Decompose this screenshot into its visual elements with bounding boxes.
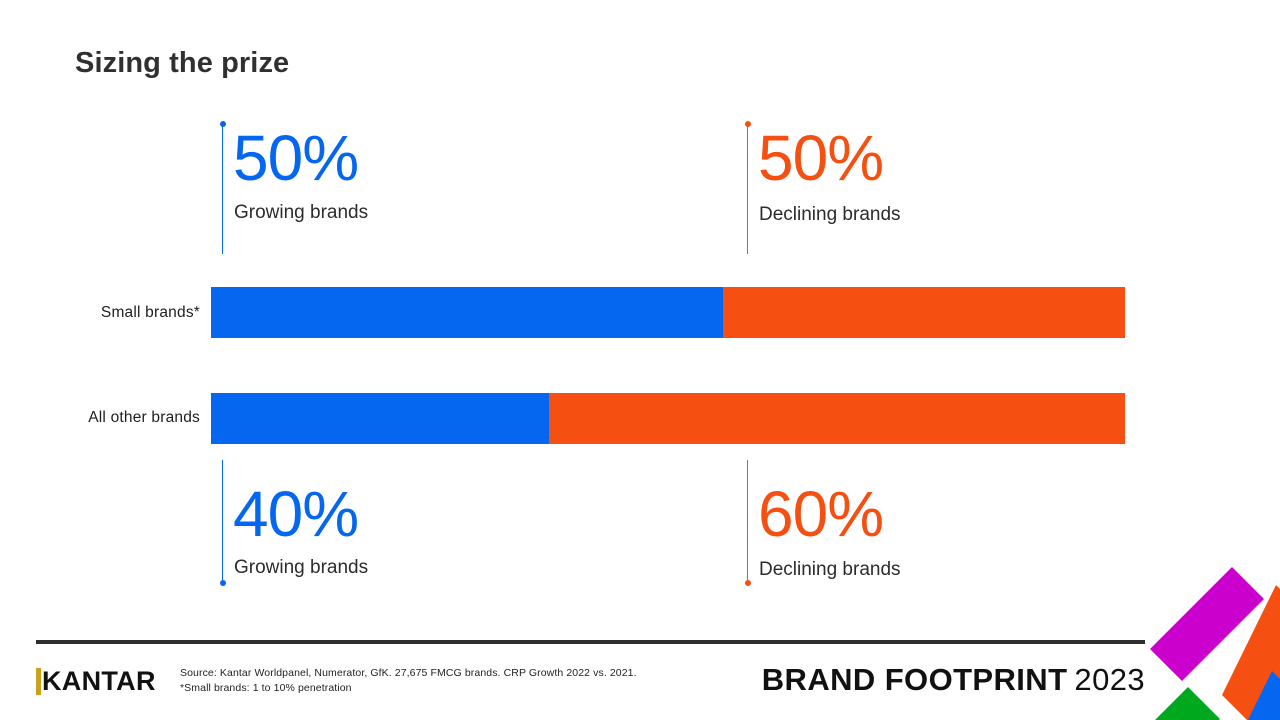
deco-shape-green [1140, 687, 1220, 720]
connector-line-icon [222, 124, 223, 254]
chart-row-all-other-brands: All other brands [0, 393, 1280, 444]
kantar-wordmark: KANTAR [42, 668, 156, 695]
bar-segment-declining [549, 393, 1125, 444]
page-title: Sizing the prize [75, 47, 289, 80]
callout-label: Declining brands [759, 559, 901, 581]
decorative-parallelograms [1140, 555, 1280, 720]
bar-segment-growing [211, 287, 723, 338]
callout-value: 60% [758, 482, 883, 546]
deco-shape-magenta [1150, 567, 1264, 681]
source-line-2: *Small brands: 1 to 10% penetration [180, 681, 637, 696]
row-label-small-brands: Small brands* [101, 304, 200, 322]
source-line-1: Source: Kantar Worldpanel, Numerator, Gf… [180, 666, 637, 681]
bar-segment-declining [723, 287, 1125, 338]
callout-label: Growing brands [234, 557, 368, 579]
deco-shape-blue [1218, 671, 1280, 720]
footer-divider [36, 640, 1145, 644]
source-note: Source: Kantar Worldpanel, Numerator, Gf… [180, 666, 637, 696]
stacked-bar-all-other-brands [211, 393, 1125, 444]
connector-dot-icon [220, 121, 226, 127]
row-label-all-other-brands: All other brands [88, 409, 200, 427]
callout-value: 40% [233, 482, 358, 546]
brand-footprint-year: 2023 [1074, 662, 1145, 697]
connector-dot-icon [745, 580, 751, 586]
bar-segment-growing [211, 393, 549, 444]
connector-dot-icon [220, 580, 226, 586]
brand-footprint-name: BRAND FOOTPRINT [762, 662, 1068, 697]
kantar-logo: KANTAR [36, 666, 156, 696]
stacked-bar-small-brands [211, 287, 1125, 338]
callout-label: Growing brands [234, 202, 368, 224]
connector-line-icon [747, 460, 748, 583]
callout-label: Declining brands [759, 204, 901, 226]
callout-value: 50% [758, 126, 883, 190]
slide-canvas: Sizing the prize 50% Growing brands 50% … [0, 0, 1280, 720]
chart-row-small-brands: Small brands* [0, 287, 1280, 338]
connector-line-icon [747, 124, 748, 254]
brand-footprint-wordmark: BRAND FOOTPRINT2023 [762, 664, 1145, 695]
connector-line-icon [222, 460, 223, 583]
kantar-gold-bar-icon [36, 668, 41, 695]
connector-dot-icon [745, 121, 751, 127]
deco-shape-orange [1222, 585, 1280, 720]
callout-value: 50% [233, 126, 358, 190]
